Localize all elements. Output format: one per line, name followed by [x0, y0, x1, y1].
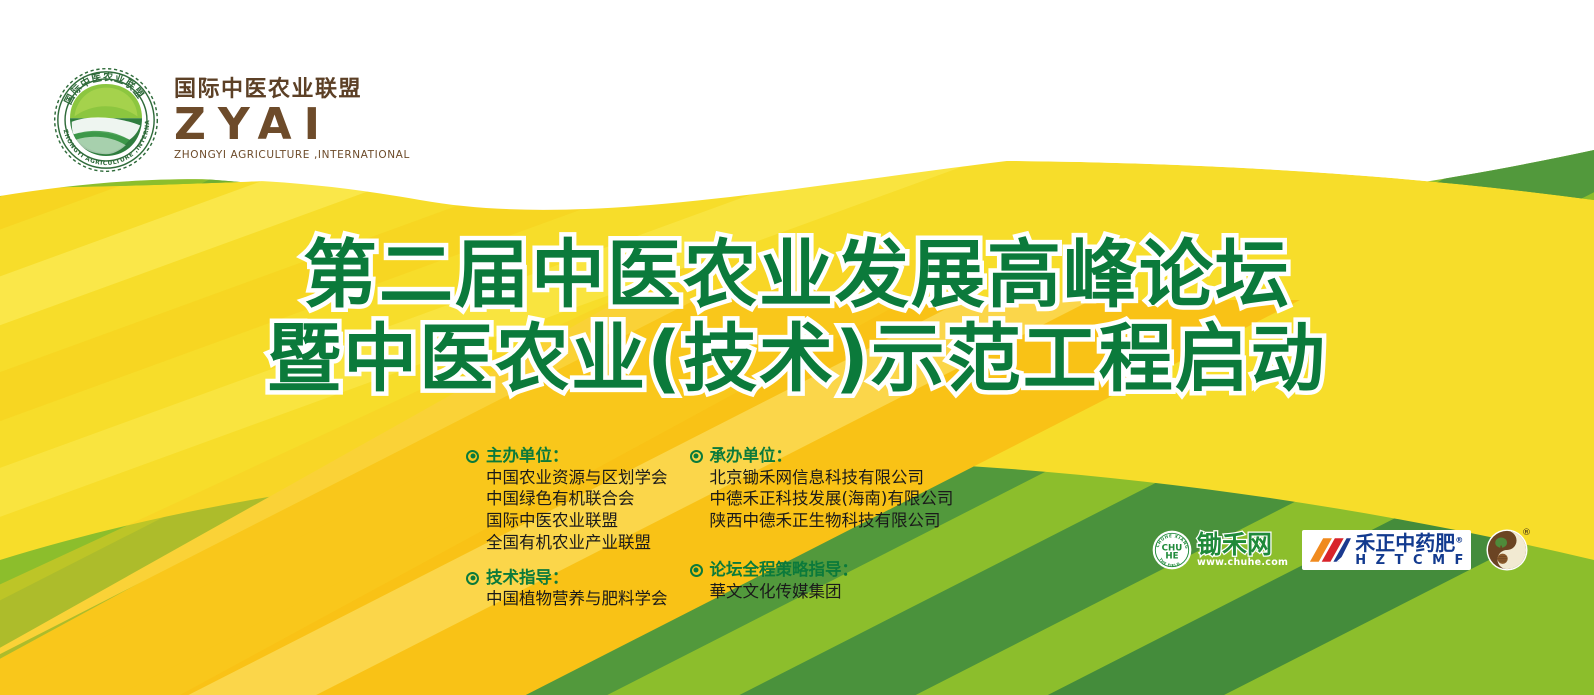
sponsor-yinyang: ® — [1485, 528, 1529, 572]
credits-right-column: 承办单位： 北京锄禾网信息科技有限公司 中德禾正科技发展(海南)有限公司 陕西中… — [690, 446, 954, 624]
credit-heading-label: 主办单位： — [486, 446, 569, 467]
credit-heading: 论坛全程策略指导： — [690, 560, 954, 581]
bullet-icon — [690, 564, 703, 577]
credit-heading-label: 承办单位： — [710, 446, 793, 467]
zyai-logo: 国际中医农业联盟 ZHONGYI AGRICULTURE ,INTERNATIO… — [52, 66, 410, 174]
credit-item-list: 北京锄禾网信息科技有限公司 中德禾正科技发展(海南)有限公司 陕西中德禾正生物科… — [710, 467, 954, 532]
hezheng-name: 禾正中药肥® — [1355, 533, 1466, 553]
bullet-icon — [466, 450, 479, 463]
credit-heading-label: 论坛全程策略指导： — [710, 560, 859, 581]
list-item: 華文文化传媒集团 — [710, 581, 954, 603]
title-line-2: 暨中医农业(技术)示范工程启动 — [0, 320, 1594, 400]
bullet-icon — [690, 450, 703, 463]
sponsor-hezheng: 禾正中药肥® H Z T C M F — [1302, 530, 1471, 570]
title-line-1: 第二届中医农业发展高峰论坛 — [0, 236, 1594, 316]
list-item: 陕西中德禾正生物科技有限公司 — [710, 510, 954, 532]
credit-item-list: 中国农业资源与区划学会 中国绿色有机联合会 国际中医农业联盟 全国有机农业产业联… — [486, 467, 668, 554]
credit-group-organizers: 主办单位： 中国农业资源与区划学会 中国绿色有机联合会 国际中医农业联盟 全国有… — [466, 446, 668, 554]
zyai-logo-wordmark: 国际中医农业联盟 ZYAI ZHONGYI AGRICULTURE ,INTER… — [174, 79, 410, 161]
chuhe-url: www.chuhe.com — [1197, 558, 1288, 568]
chuhe-name: 锄禾网 — [1197, 532, 1288, 557]
sponsor-chuhe: CHUHE XIANG NONGYE THE FIELD CHU HE 锄禾网 … — [1152, 530, 1288, 570]
conference-banner: 国际中医农业联盟 ZHONGYI AGRICULTURE ,INTERNATIO… — [0, 0, 1594, 695]
list-item: 中国农业资源与区划学会 — [486, 467, 668, 489]
list-item: 北京锄禾网信息科技有限公司 — [710, 467, 954, 489]
credit-heading-label: 技术指导： — [486, 568, 569, 589]
hezheng-name-label: 禾正中药肥 — [1355, 531, 1455, 555]
list-item: 国际中医农业联盟 — [486, 510, 668, 532]
credits-left-column: 主办单位： 中国农业资源与区划学会 中国绿色有机联合会 国际中医农业联盟 全国有… — [466, 446, 668, 624]
list-item: 中德禾正科技发展(海南)有限公司 — [710, 488, 954, 510]
svg-text:HE: HE — [1165, 552, 1178, 562]
credit-group-co-organizers: 承办单位： 北京锄禾网信息科技有限公司 中德禾正科技发展(海南)有限公司 陕西中… — [690, 446, 954, 532]
list-item: 中国绿色有机联合会 — [486, 488, 668, 510]
page-title: 第二届中医农业发展高峰论坛 暨中医农业(技术)示范工程启动 — [0, 236, 1594, 400]
hezheng-wordmark: 禾正中药肥® H Z T C M F — [1355, 533, 1466, 567]
bullet-icon — [466, 572, 479, 585]
zyai-acronym: ZYAI — [174, 103, 410, 147]
hezheng-diagonal-bars-icon — [1307, 535, 1351, 565]
registered-mark: ® — [1455, 535, 1463, 544]
list-item: 全国有机农业产业联盟 — [486, 532, 668, 554]
zyai-english-name: ZHONGYI AGRICULTURE ,INTERNATIONAL — [174, 150, 410, 161]
credit-heading: 承办单位： — [690, 446, 954, 467]
chuhe-seal-icon: CHUHE XIANG NONGYE THE FIELD CHU HE — [1152, 530, 1192, 570]
zyai-circular-emblem-icon: 国际中医农业联盟 ZHONGYI AGRICULTURE ,INTERNATIO… — [52, 66, 160, 174]
registered-mark: ® — [1522, 528, 1531, 538]
credit-item-list: 華文文化传媒集团 — [710, 581, 954, 603]
credit-heading: 主办单位： — [466, 446, 668, 467]
credit-item-list: 中国植物营养与肥料学会 — [486, 588, 668, 610]
list-item: 中国植物营养与肥料学会 — [486, 588, 668, 610]
credits-section: 主办单位： 中国农业资源与区划学会 中国绿色有机联合会 国际中医农业联盟 全国有… — [466, 446, 953, 624]
sponsor-logos: CHUHE XIANG NONGYE THE FIELD CHU HE 锄禾网 … — [1152, 528, 1529, 572]
credit-group-strategic-guidance: 论坛全程策略指导： 華文文化传媒集团 — [690, 560, 954, 602]
zyai-chinese-name: 国际中医农业联盟 — [174, 79, 410, 101]
credit-group-technical-guidance: 技术指导： 中国植物营养与肥料学会 — [466, 568, 668, 610]
hezheng-acronym: H Z T C M F — [1355, 554, 1466, 567]
chuhe-wordmark: 锄禾网 www.chuhe.com — [1197, 532, 1288, 568]
credit-heading: 技术指导： — [466, 568, 668, 589]
